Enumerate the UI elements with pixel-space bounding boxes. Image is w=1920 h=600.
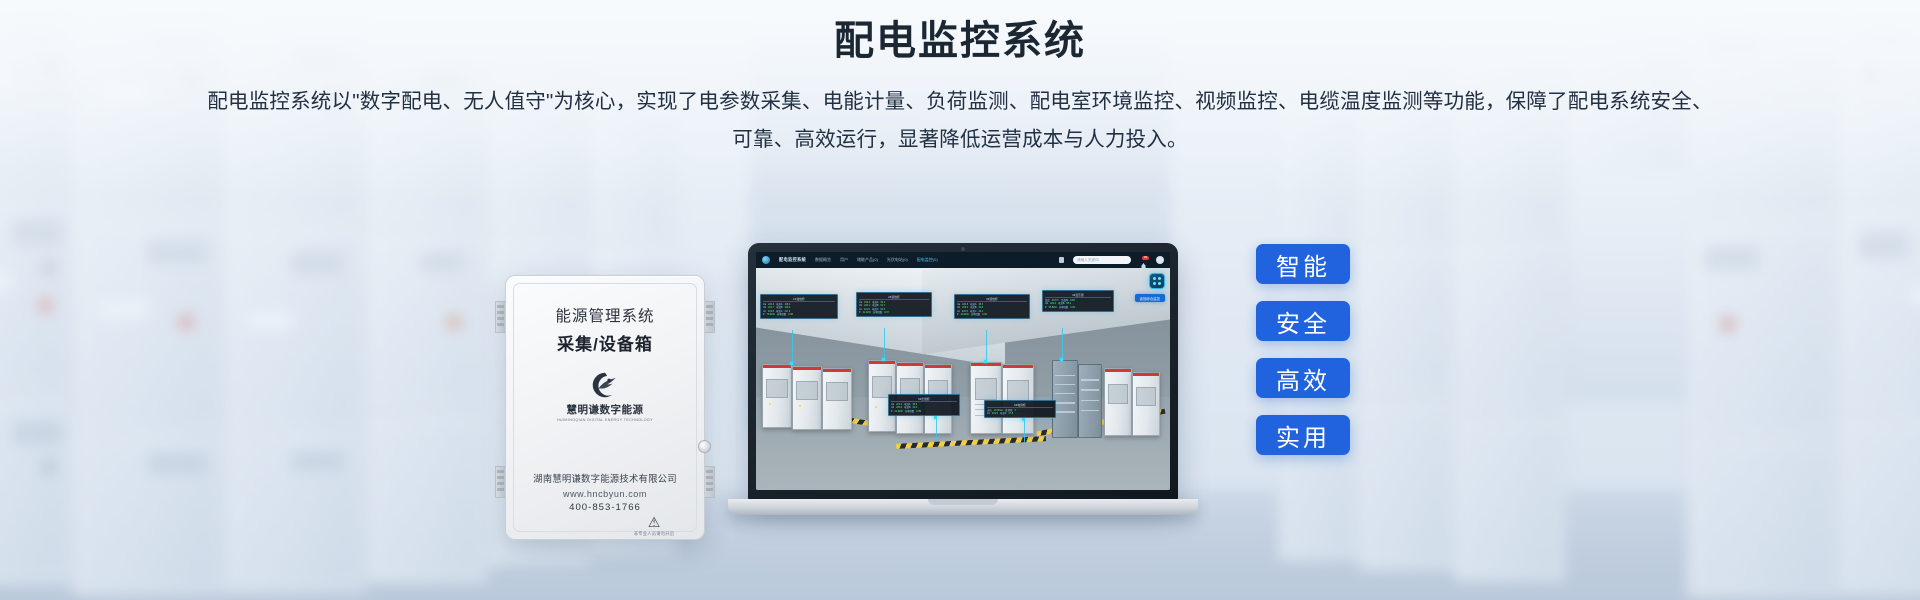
box-footer-info: 湖南慧明谦数字能源技术有限公司 www.hncbyun.com 400-853-… [506, 471, 704, 513]
data-node [1060, 358, 1063, 361]
leader-line [792, 330, 793, 364]
avatar[interactable] [1156, 256, 1164, 264]
hud-key: 功率因数 [971, 313, 981, 316]
box-warning-text: 非专业人员请勿开启 [624, 531, 684, 537]
hud-value: 0.95 [916, 410, 921, 413]
page-description: 配电监控系统以"数字配电、无人值守"为核心，实现了电参数采集、电能计量、负荷监测… [205, 83, 1715, 159]
box-brand-logo: 慧明谦数字能源 HUIMINGQIAN DIGITAL ENERGY TECHN… [506, 371, 704, 422]
hud-title: 6#电容柜 [987, 403, 1053, 409]
box-website: www.hncbyun.com [506, 489, 704, 499]
hud-key: P [891, 410, 893, 413]
search-input[interactable]: 请输入关键词 [1073, 256, 1131, 264]
nav-item-1[interactable]: 用户 [840, 257, 848, 263]
webcam-icon [961, 247, 965, 251]
banner-header: 配电监控系统 配电监控系统以"数字配电、无人值守"为核心，实现了电参数采集、电能… [0, 0, 1920, 159]
nav-item-2[interactable]: 储能产品(0) [857, 257, 878, 263]
hud-title: 1#进线柜 [763, 297, 835, 303]
hud-panel: 6#电容柜 无功18.4kVar投切组3 Uc219.9电流C27.8 [984, 400, 1056, 418]
laptop-screen: 配电监控系统 数据概览 用户 储能产品(0) 光伏电站(0) 配电监控(0) 请… [756, 252, 1170, 490]
nav-item-3[interactable]: 光伏电站(0) [887, 257, 908, 263]
hud-key: P [957, 313, 959, 316]
hud-key: P [1045, 306, 1047, 309]
switchgear-cabinet [822, 368, 852, 430]
hud-key: 功率因数 [905, 410, 915, 413]
box-mount-ear-right-bottom [704, 466, 715, 498]
hud-value: 0.97 [884, 311, 889, 314]
scene-3d-substation: 1#进线柜 Ua220.3电流A118.4 Ub221.7电流B116.0 Uc… [756, 268, 1170, 490]
data-node [882, 358, 885, 361]
hud-value: 78.6kW [767, 313, 775, 316]
laptop-base [728, 499, 1198, 515]
switchgear-cabinet [970, 362, 1002, 434]
data-node [790, 362, 793, 365]
app-navbar: 配电监控系统 数据概览 用户 储能产品(0) 光伏电站(0) 配电监控(0) 请… [756, 252, 1170, 269]
laptop-mockup: 配电监控系统 数据概览 用户 储能产品(0) 光伏电站(0) 配电监控(0) 请… [728, 243, 1198, 533]
app-logo-icon [762, 256, 770, 264]
hud-key: P [763, 313, 765, 316]
hud-value: 27.8 [1008, 412, 1013, 415]
leader-line [884, 328, 885, 360]
equipment-rack [1052, 360, 1078, 438]
hud-key: P [859, 311, 861, 314]
return-monitoring-button[interactable]: 返回综合监控 [1135, 294, 1165, 302]
feature-tag-list: 智能 安全 高效 实用 [1256, 244, 1350, 472]
box-screw [698, 440, 711, 453]
hud-value: 41.2kW [863, 311, 871, 314]
switchgear-cabinet [762, 364, 792, 428]
app-grid-icon[interactable] [1149, 273, 1165, 289]
hud-key: Uc [987, 412, 990, 415]
data-node [1022, 418, 1025, 421]
hud-panel: 2#馈线柜 Ua219.4电流A62.1 Ub220.1电流B61.7 Uc22… [856, 292, 932, 317]
hud-key: 功率因数 [777, 313, 787, 316]
hud-panel: 3#馈线柜 Ua220.8电流A45.3 Ub219.2电流B44.8 Uc22… [954, 294, 1030, 319]
box-phone: 400-853-1766 [506, 502, 704, 513]
hud-value: 56.8kW [1049, 306, 1057, 309]
document-icon[interactable] [1059, 257, 1064, 263]
hud-value: 0.99 [1070, 306, 1075, 309]
box-body: 能源管理系统 采集/设备箱 慧明谦数字能源 HUIMINGQIAN DIGITA… [505, 275, 705, 540]
bell-icon[interactable]: 99 [1140, 257, 1147, 264]
hud-key: 功率因数 [1059, 306, 1069, 309]
box-company-name: 湖南慧明谦数字能源技术有限公司 [506, 471, 704, 485]
feature-tag-intelligent[interactable]: 智能 [1256, 244, 1350, 284]
notification-badge: 99 [1142, 256, 1149, 260]
hud-title: 3#馈线柜 [957, 297, 1027, 303]
hud-panel: 5#出线柜 Ua221.1电流A33.6 Ub220.6电流B34.2 P22.… [888, 394, 960, 416]
hud-panel: 1#进线柜 Ua220.3电流A118.4 Ub221.7电流B116.0 Uc… [760, 294, 838, 319]
hud-key: 功率因数 [873, 311, 883, 314]
search-placeholder: 请输入关键词 [1077, 258, 1099, 263]
leader-line [1024, 420, 1025, 442]
box-mount-ear-right-top [704, 301, 715, 333]
hud-panel: 4#变压器 温度46.5℃负载率63% Ub220.2电流B88.2 P56.8… [1042, 290, 1114, 312]
leader-line [936, 418, 937, 440]
box-title-secondary: 采集/设备箱 [506, 330, 704, 355]
box-warning-label: ⚠ 非专业人员请勿开启 [624, 515, 684, 537]
hud-title: 2#馈线柜 [859, 295, 929, 301]
brand-mark-icon [591, 371, 619, 399]
leader-line [986, 330, 987, 362]
page-title: 配电监控系统 [0, 0, 1920, 65]
equipment-rack [1078, 364, 1102, 438]
switchgear-cabinet [1002, 364, 1034, 434]
hud-value: 30.4kW [961, 313, 969, 316]
feature-tag-efficient[interactable]: 高效 [1256, 358, 1350, 398]
hud-value: 0.98 [788, 313, 793, 316]
switchgear-cabinet [792, 366, 822, 430]
switchgear-cabinet [1104, 368, 1132, 436]
hud-title: 5#出线柜 [891, 397, 957, 403]
energy-collection-device-box: 能源管理系统 采集/设备箱 慧明谦数字能源 HUIMINGQIAN DIGITA… [505, 275, 705, 540]
app-brand-name: 配电监控系统 [779, 257, 806, 263]
box-title-primary: 能源管理系统 [506, 304, 704, 326]
banner-stage: 配电监控系统 配电监控系统以"数字配电、无人值守"为核心，实现了电参数采集、电能… [0, 0, 1920, 600]
hud-value: 219.9 [992, 412, 998, 415]
data-node [984, 360, 987, 363]
warning-triangle-icon: ⚠ [624, 515, 684, 529]
hud-value: 3 [1014, 409, 1015, 412]
box-brand-name-en: HUIMINGQIAN DIGITAL ENERGY TECHNOLOGY [506, 418, 704, 422]
switchgear-cabinet [1132, 372, 1160, 436]
leader-line [1062, 328, 1063, 360]
box-brand-name-cn: 慧明谦数字能源 [506, 402, 704, 417]
hud-value: 22.3kW [895, 410, 903, 413]
nav-item-0[interactable]: 数据概览 [815, 257, 831, 263]
feature-tag-safe[interactable]: 安全 [1256, 301, 1350, 341]
hud-title: 4#变压器 [1045, 293, 1111, 299]
laptop-base-notch [928, 499, 998, 505]
nav-item-4[interactable]: 配电监控(0) [917, 257, 938, 263]
laptop-lid: 配电监控系统 数据概览 用户 储能产品(0) 光伏电站(0) 配电监控(0) 请… [748, 243, 1178, 501]
data-node [934, 416, 937, 419]
feature-tag-practical[interactable]: 实用 [1256, 415, 1350, 455]
hud-value: 0.96 [982, 313, 987, 316]
hud-key: 电流C [1000, 412, 1007, 415]
